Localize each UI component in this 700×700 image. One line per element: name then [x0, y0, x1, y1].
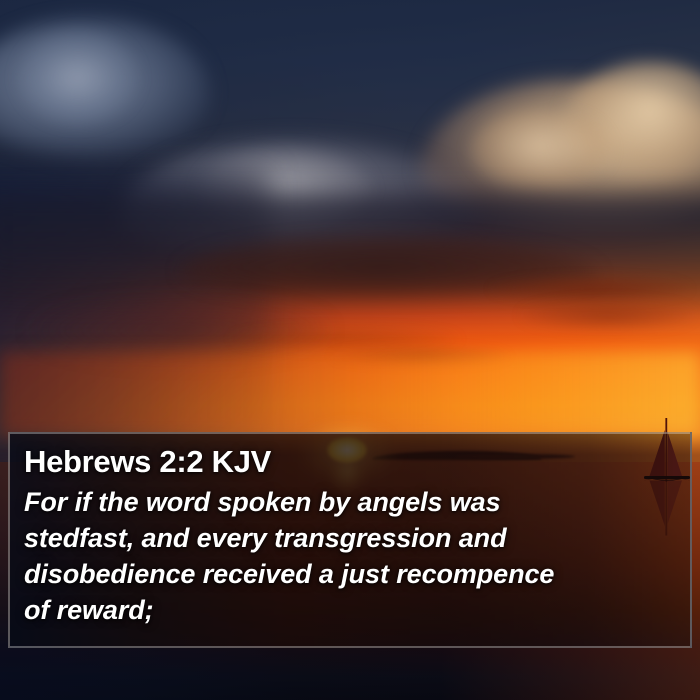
- verse-line-2: stedfast, and every transgression and: [24, 520, 674, 556]
- cloud-wisp-b: [520, 300, 695, 330]
- verse-image-canvas: Hebrews 2:2 KJV For if the word spoken b…: [0, 0, 700, 700]
- rain-curtain-left: [0, 170, 270, 470]
- dark-cloud-slab: [0, 195, 700, 325]
- dark-cloud-core: [180, 236, 600, 298]
- cloud-wisp-a: [490, 276, 690, 302]
- cloud-upper-left: [0, 18, 210, 158]
- verse-line-4: of reward;: [24, 592, 674, 628]
- cloud-mid-left-puff: [200, 150, 370, 228]
- verse-overlay-panel: Hebrews 2:2 KJV For if the word spoken b…: [8, 432, 692, 648]
- storm-cloud-mass: [0, 0, 700, 250]
- cloud-upper-left-puff: [18, 30, 138, 125]
- verse-text: For if the word spoken by angels was ste…: [24, 484, 674, 628]
- cloud-sunlit-right: [420, 80, 700, 230]
- cloud-sunlit-right-lower: [470, 110, 610, 190]
- cloud-wisp-e: [30, 300, 330, 360]
- horizon-glow: [0, 352, 700, 436]
- cloud-wisp-c: [230, 328, 460, 350]
- cloud-mid-left-bank: [120, 140, 480, 260]
- verse-reference-title: Hebrews 2:2 KJV: [24, 442, 674, 482]
- verse-line-1: For if the word spoken by angels was: [24, 484, 674, 520]
- cloud-sunlit-right-top: [560, 62, 700, 182]
- verse-line-3: disobedience received a just recompence: [24, 556, 674, 592]
- cloud-wisp-d: [330, 346, 510, 366]
